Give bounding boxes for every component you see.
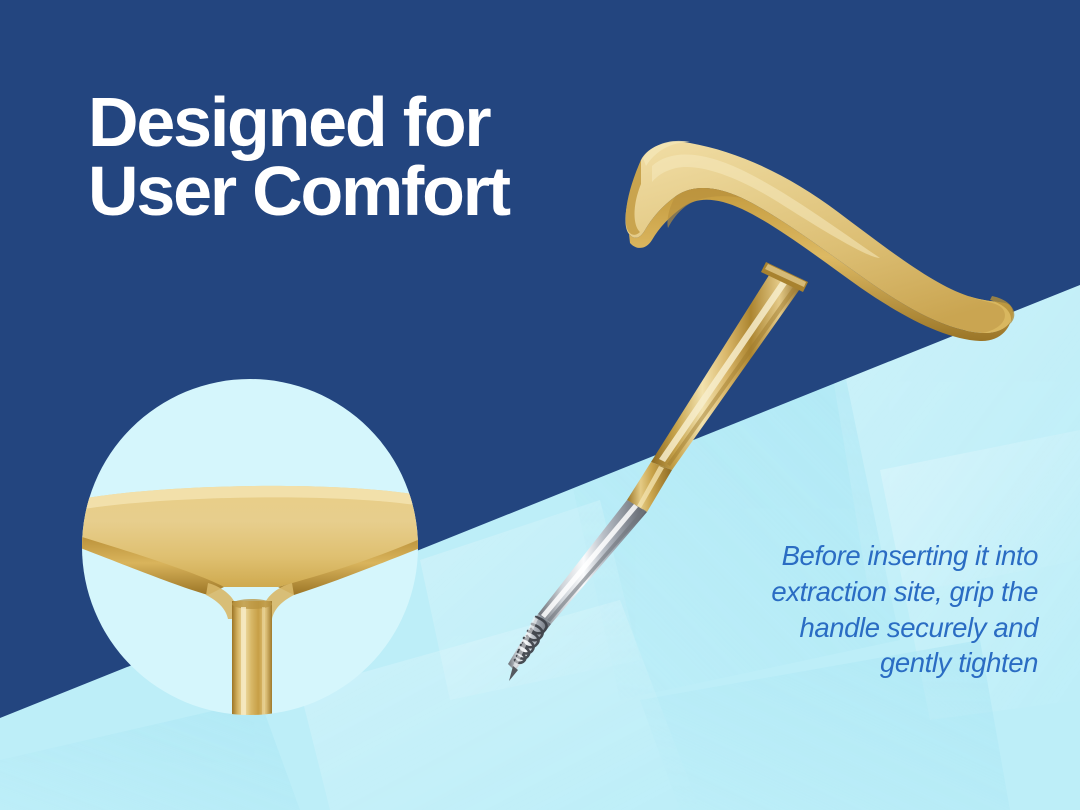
tool-steel-shaft: [538, 500, 647, 624]
poster-canvas: Designed for User Comfort: [0, 0, 1080, 810]
product-illustration-t-handle-extractor: [0, 0, 1080, 810]
tool-screw-tip: [508, 614, 551, 681]
tool-shaft: [651, 272, 802, 470]
tool-t-handle: [625, 141, 1014, 341]
instruction-caption: Before inserting it into extraction site…: [698, 538, 1038, 681]
